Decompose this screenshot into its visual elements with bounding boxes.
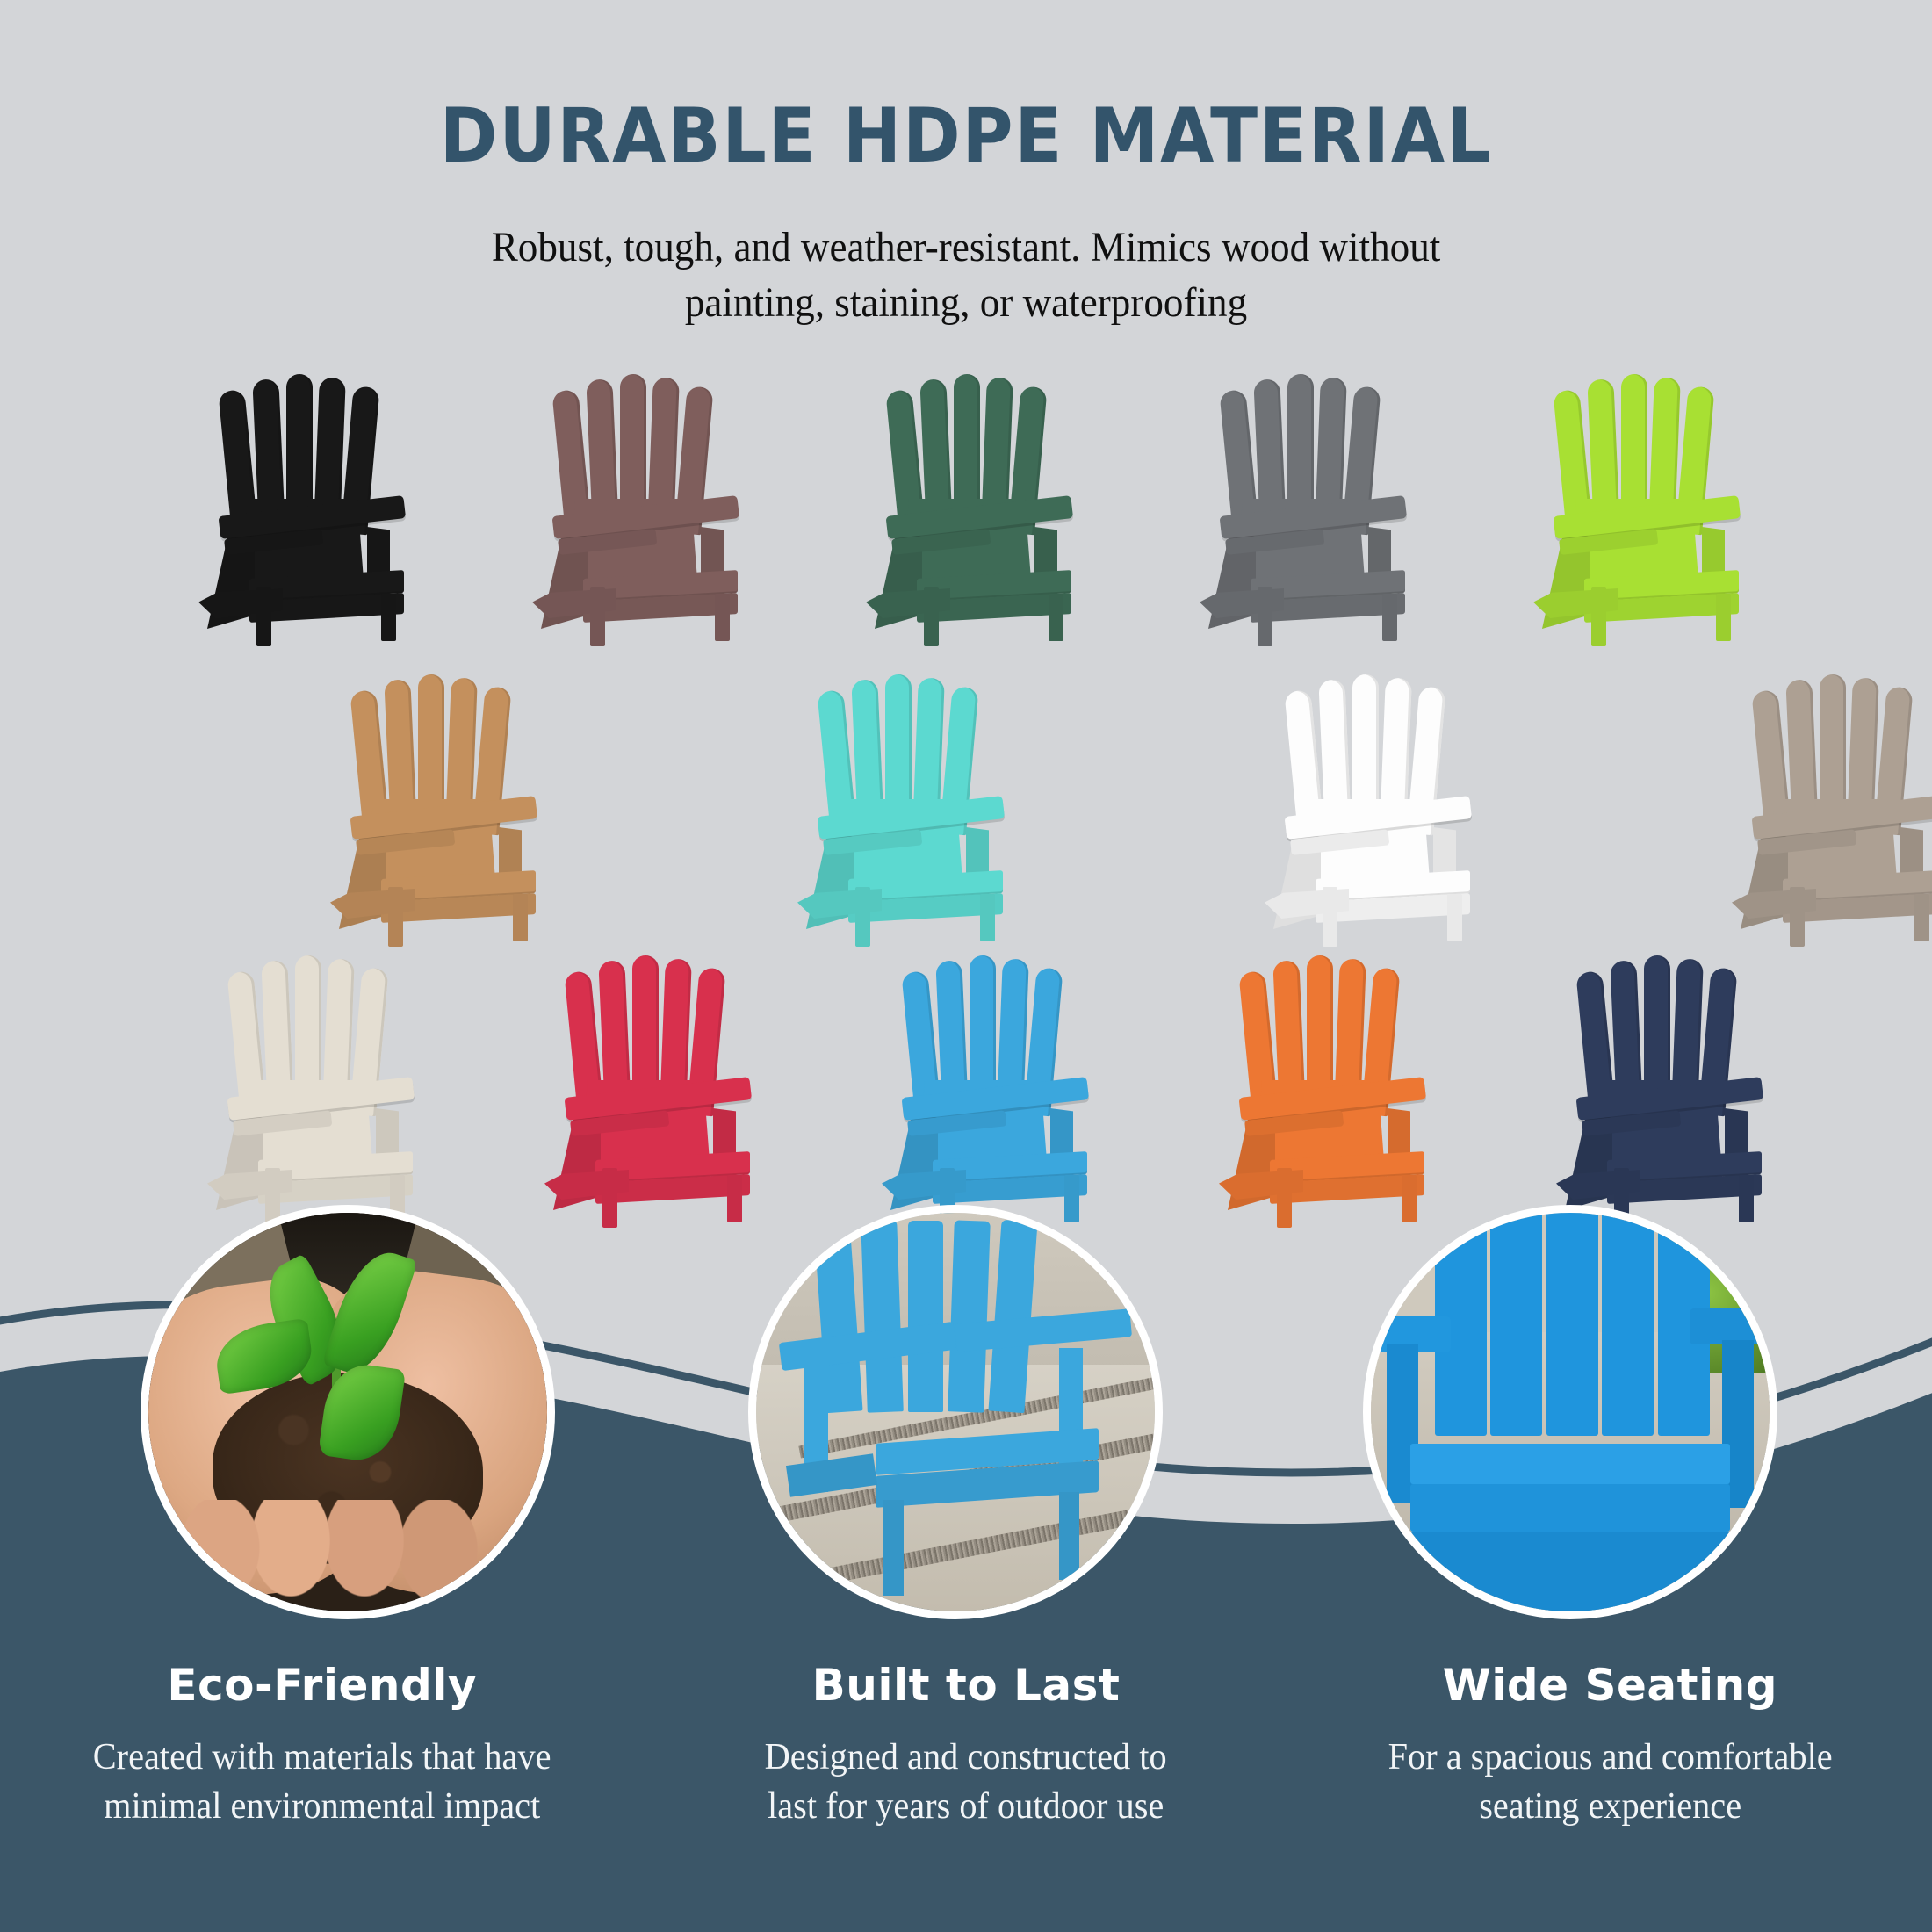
feature-desc-line-1: Created with materials that have [93,1737,551,1777]
feature-desc-line-2: last for years of outdoor use [768,1786,1164,1827]
feature-heading: Wide Seating [1288,1660,1932,1711]
feature-desc-line-2: minimal environmental impact [104,1786,540,1827]
feature-description: For a spacious and comfortable seating e… [1301,1734,1919,1832]
photo-chair-front-foot [786,1454,877,1498]
photo-chair-back-slat [861,1220,903,1412]
feature-desc-line-1: Designed and constructed to [765,1737,1167,1777]
wide-seating-photo [1363,1205,1777,1619]
feature-heading: Eco-Friendly [0,1660,644,1711]
feature-photos [0,0,1932,1932]
photo-chair-front-leg [883,1500,904,1596]
feature-heading: Built to Last [644,1660,1287,1711]
photo-chair-back-slat [989,1220,1038,1413]
feature-item-wide-seating: Wide Seating For a spacious and comforta… [1288,1660,1932,1832]
feature-caption-list: Eco-Friendly Created with materials that… [0,1660,1932,1832]
eco-friendly-photo [141,1205,555,1619]
blue-chair-patio-icon [756,1213,1155,1611]
feature-desc-line-2: seating experience [1479,1786,1741,1827]
feature-description: Created with materials that have minimal… [13,1734,631,1832]
photo-chair-back-leg [1059,1492,1079,1580]
hands-holding-seedling-icon [148,1213,547,1611]
feature-description: Designed and constructed to last for yea… [657,1734,1275,1832]
feature-item-eco-friendly: Eco-Friendly Created with materials that… [0,1660,644,1832]
blue-chair-seat-closeup-icon [1371,1213,1770,1611]
feature-desc-line-1: For a spacious and comfortable [1388,1737,1832,1777]
feature-item-built-to-last: Built to Last Designed and constructed t… [644,1660,1287,1832]
photo-chair-back-slat [948,1220,991,1412]
photo-chair-back-slat [908,1221,944,1412]
built-to-last-photo [748,1205,1163,1619]
